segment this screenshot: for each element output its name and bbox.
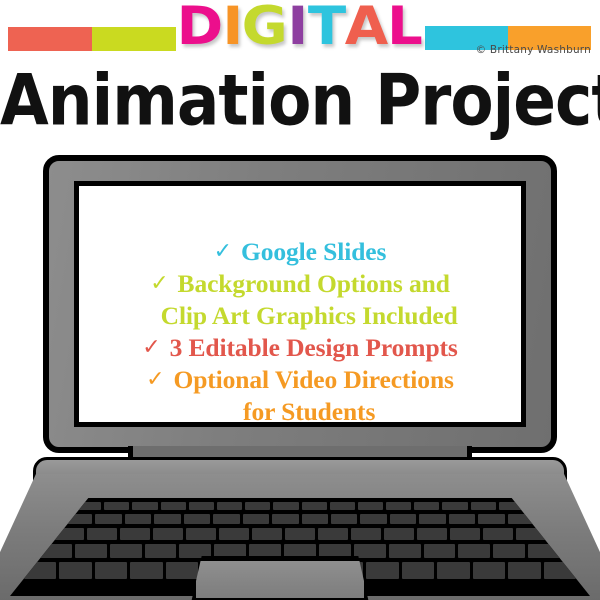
keyboard-key[interactable] <box>125 514 151 524</box>
keyboard-key[interactable] <box>24 562 56 579</box>
keyboard-key[interactable] <box>386 502 411 510</box>
keyboard-key[interactable] <box>110 544 142 558</box>
keyboard-key[interactable] <box>284 544 316 558</box>
keyboard-row-1 <box>76 502 524 510</box>
feature-label: Google Slides <box>241 237 386 266</box>
keyboard-key[interactable] <box>478 514 504 524</box>
keyboard-key[interactable] <box>285 528 315 540</box>
keyboard-key[interactable] <box>104 502 129 510</box>
keyboard-key[interactable] <box>358 502 383 510</box>
keyboard-key[interactable] <box>243 514 269 524</box>
keyboard-row-3 <box>54 528 546 540</box>
keyboard-key[interactable] <box>219 528 249 540</box>
keyboard-key[interactable] <box>273 502 298 510</box>
keyboard-key[interactable] <box>424 544 456 558</box>
keyboard-key[interactable] <box>166 562 198 579</box>
keyboard-key[interactable] <box>54 528 84 540</box>
keyboard-key[interactable] <box>66 514 92 524</box>
check-icon: ✓ <box>150 271 168 296</box>
keyboard-key[interactable] <box>442 502 467 510</box>
keyboard-key[interactable] <box>471 502 496 510</box>
feature-line-3: ✓Clip Art Graphics Included <box>79 300 521 332</box>
check-icon: ✓ <box>214 239 232 264</box>
keyboard-key[interactable] <box>544 562 576 579</box>
keyboard-key[interactable] <box>366 562 398 579</box>
feature-line-1: ✓Google Slides <box>79 236 521 268</box>
keyboard-key[interactable] <box>473 562 505 579</box>
keyboard-key[interactable] <box>402 562 434 579</box>
keyboard-key[interactable] <box>153 528 183 540</box>
check-icon: ✓ <box>142 335 160 360</box>
keyboard-key[interactable] <box>417 528 447 540</box>
keyboard-key[interactable] <box>272 514 298 524</box>
laptop-lid: ✓Google Slides✓Background Options and✓Cl… <box>43 155 557 453</box>
laptop-trackpad[interactable] <box>191 556 369 600</box>
keyboard-key[interactable] <box>249 544 281 558</box>
laptop-bezel: ✓Google Slides✓Background Options and✓Cl… <box>74 181 526 427</box>
keyboard-key[interactable] <box>354 544 386 558</box>
keyboard-key[interactable] <box>331 514 357 524</box>
keyboard-key[interactable] <box>437 562 469 579</box>
feature-label: Background Options and <box>178 269 450 298</box>
check-icon: ✓ <box>146 367 164 392</box>
feature-label: Optional Video Directions <box>173 365 453 394</box>
keyboard-key[interactable] <box>217 502 242 510</box>
feature-label: 3 Editable Design Prompts <box>170 333 458 362</box>
keyboard-key[interactable] <box>95 562 127 579</box>
keyboard-row-4 <box>40 544 560 558</box>
keyboard-key[interactable] <box>493 544 525 558</box>
keyboard-key[interactable] <box>318 528 348 540</box>
keyboard-row-2 <box>66 514 534 524</box>
keyboard-key[interactable] <box>419 514 445 524</box>
keyboard-key[interactable] <box>161 502 186 510</box>
feature-line-2: ✓Background Options and <box>79 268 521 300</box>
keyboard-key[interactable] <box>40 544 72 558</box>
keyboard-key[interactable] <box>319 544 351 558</box>
keyboard-key[interactable] <box>132 502 157 510</box>
keyboard-key[interactable] <box>302 502 327 510</box>
keyboard-key[interactable] <box>145 544 177 558</box>
feature-line-5: ✓Optional Video Directions <box>79 364 521 396</box>
keyboard-key[interactable] <box>189 502 214 510</box>
keyboard-key[interactable] <box>458 544 490 558</box>
poster-canvas: © Brittany Washburn DIGITAL Animation Pr… <box>0 0 600 600</box>
feature-label: Clip Art Graphics Included <box>161 301 458 330</box>
keyboard-key[interactable] <box>384 528 414 540</box>
laptop-illustration: ✓Google Slides✓Background Options and✓Cl… <box>0 0 600 600</box>
keyboard-key[interactable] <box>75 544 107 558</box>
laptop-base-body <box>0 474 600 600</box>
keyboard-key[interactable] <box>516 528 546 540</box>
keyboard-key[interactable] <box>449 514 475 524</box>
keyboard-key[interactable] <box>252 528 282 540</box>
keyboard-key[interactable] <box>213 514 239 524</box>
feature-list: ✓Google Slides✓Background Options and✓Cl… <box>79 236 521 422</box>
keyboard-key[interactable] <box>186 528 216 540</box>
keyboard-key[interactable] <box>330 502 355 510</box>
feature-label: for Students <box>243 397 375 422</box>
keyboard-key[interactable] <box>450 528 480 540</box>
keyboard-key[interactable] <box>414 502 439 510</box>
keyboard-key[interactable] <box>499 502 524 510</box>
keyboard-key[interactable] <box>508 562 540 579</box>
keyboard-key[interactable] <box>245 502 270 510</box>
keyboard-key[interactable] <box>390 514 416 524</box>
keyboard-key[interactable] <box>130 562 162 579</box>
keyboard-key[interactable] <box>351 528 381 540</box>
laptop-base <box>0 452 600 600</box>
keyboard-key[interactable] <box>214 544 246 558</box>
keyboard-key[interactable] <box>95 514 121 524</box>
feature-line-4: ✓3 Editable Design Prompts <box>79 332 521 364</box>
keyboard-key[interactable] <box>389 544 421 558</box>
feature-line-6: ✓for Students <box>79 396 521 422</box>
keyboard-key[interactable] <box>87 528 117 540</box>
keyboard-key[interactable] <box>120 528 150 540</box>
keyboard-key[interactable] <box>302 514 328 524</box>
laptop-screen: ✓Google Slides✓Background Options and✓Cl… <box>79 186 521 422</box>
keyboard-key[interactable] <box>184 514 210 524</box>
keyboard-key[interactable] <box>179 544 211 558</box>
keyboard-key[interactable] <box>59 562 91 579</box>
keyboard-key[interactable] <box>76 502 101 510</box>
keyboard-key[interactable] <box>154 514 180 524</box>
keyboard-key[interactable] <box>528 544 560 558</box>
keyboard-key[interactable] <box>360 514 386 524</box>
keyboard-key[interactable] <box>483 528 513 540</box>
keyboard-key[interactable] <box>508 514 534 524</box>
